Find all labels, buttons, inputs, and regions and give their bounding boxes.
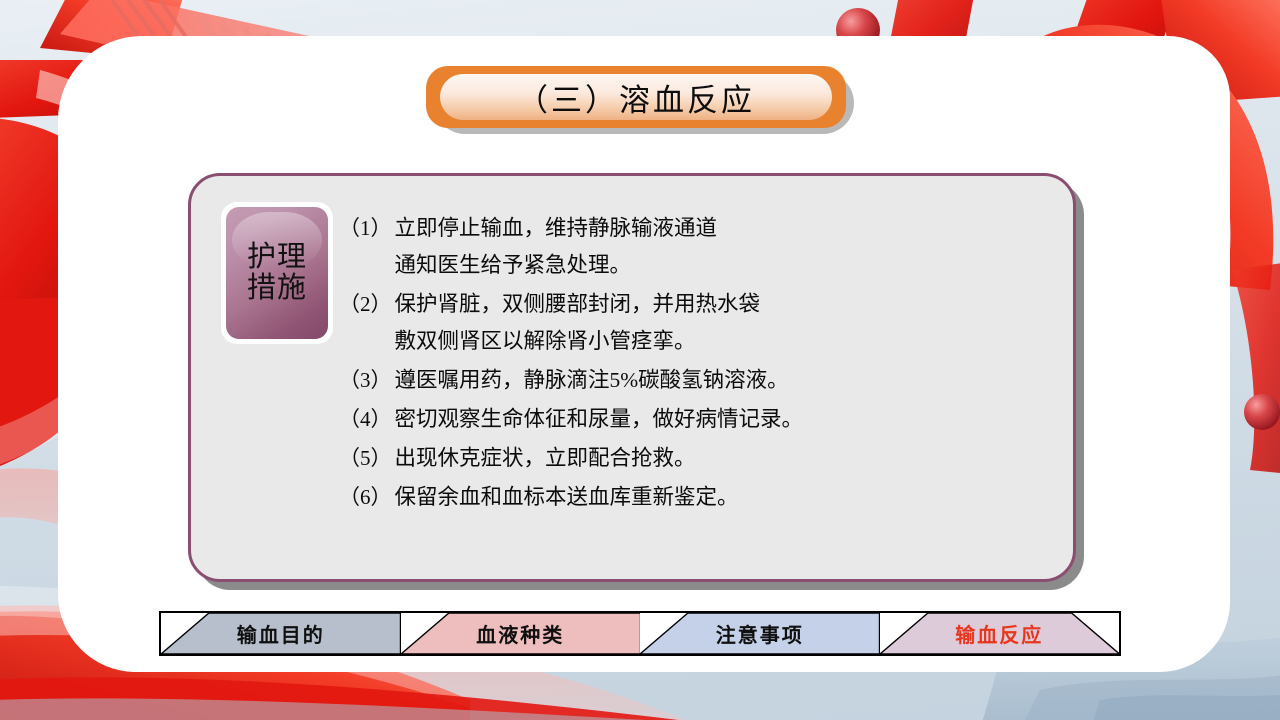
list-item-text: 出现休克症状，立即配合抢救。	[395, 440, 696, 477]
list-item-number: （6）	[339, 479, 392, 516]
nav-tab-shuxuemudi[interactable]: 输血目的	[161, 613, 401, 654]
list-item-number: （2）	[339, 286, 392, 323]
nav-tab-label: 输血目的	[237, 619, 325, 648]
list-item-continuation: 敷双侧肾区以解除肾小管痉挛。	[395, 323, 761, 360]
nursing-measures-panel: 护理 措施 （1） 立即停止输血，维持静脉输液通道 通知医生给予紧急处理。 （2…	[188, 173, 1076, 582]
list-item-text: 立即停止输血，维持静脉输液通道	[395, 210, 718, 247]
list-item: （5） 出现休克症状，立即配合抢救。	[339, 440, 1053, 477]
list-item-number: （3）	[339, 362, 392, 399]
list-item: （3） 遵医嘱用药，静脉滴注5%碳酸氢钠溶液。	[339, 362, 1053, 399]
list-item-text: 保留余血和血标本送血库重新鉴定。	[395, 479, 739, 516]
list-item: （1） 立即停止输血，维持静脉输液通道 通知医生给予紧急处理。	[339, 210, 1053, 284]
list-item-continuation: 通知医生给予紧急处理。	[395, 247, 718, 284]
nav-tab-label: 注意事项	[716, 619, 804, 648]
section-label-line-1: 护理	[247, 242, 307, 273]
section-label-chip: 护理 措施	[221, 202, 333, 344]
nav-tab-label: 血液种类	[476, 619, 564, 648]
section-label-chip-inner: 护理 措施	[226, 207, 328, 339]
list-item-number: （5）	[339, 440, 392, 477]
list-item-body: 立即停止输血，维持静脉输液通道 通知医生给予紧急处理。	[395, 210, 718, 284]
slide-title-pill: （三）溶血反应	[426, 66, 846, 128]
list-item-number: （4）	[339, 401, 392, 438]
measures-list: （1） 立即停止输血，维持静脉输液通道 通知医生给予紧急处理。 （2） 保护肾脏…	[339, 210, 1053, 518]
list-item-text: 遵医嘱用药，静脉滴注5%碳酸氢钠溶液。	[395, 362, 789, 399]
list-item-number: （1）	[339, 210, 392, 247]
list-item-body: 保护肾脏，双侧腰部封闭，并用热水袋 敷双侧肾区以解除肾小管痉挛。	[395, 286, 761, 360]
section-label-line-2: 措施	[247, 273, 307, 304]
nav-tab-shuxuefanying[interactable]: 输血反应	[880, 613, 1120, 654]
list-item: （2） 保护肾脏，双侧腰部封闭，并用热水袋 敷双侧肾区以解除肾小管痉挛。	[339, 286, 1053, 360]
slide-title-inner: （三）溶血反应	[440, 74, 832, 120]
page-title: （三）溶血反应	[517, 75, 755, 120]
list-item-body: 遵医嘱用药，静脉滴注5%碳酸氢钠溶液。	[395, 362, 789, 399]
nav-tab-label: 输血反应	[955, 619, 1043, 648]
list-item-body: 保留余血和血标本送血库重新鉴定。	[395, 479, 739, 516]
slide-canvas: （三）溶血反应 护理 措施 （1） 立即停止输血，维持静脉输液通道 通知医生给予…	[0, 0, 1280, 720]
list-item: （4） 密切观察生命体征和尿量，做好病情记录。	[339, 401, 1053, 438]
nav-tab-xueyezhonglei[interactable]: 血液种类	[401, 613, 641, 654]
list-item: （6） 保留余血和血标本送血库重新鉴定。	[339, 479, 1053, 516]
list-item-text: 密切观察生命体征和尿量，做好病情记录。	[395, 401, 804, 438]
nav-tab-zhuyishixiang[interactable]: 注意事项	[640, 613, 880, 654]
section-nav-bar: 输血目的 血液种类 注意事项 输血反应	[159, 611, 1121, 656]
list-item-body: 出现休克症状，立即配合抢救。	[395, 440, 696, 477]
list-item-text: 保护肾脏，双侧腰部封闭，并用热水袋	[395, 286, 761, 323]
list-item-body: 密切观察生命体征和尿量，做好病情记录。	[395, 401, 804, 438]
